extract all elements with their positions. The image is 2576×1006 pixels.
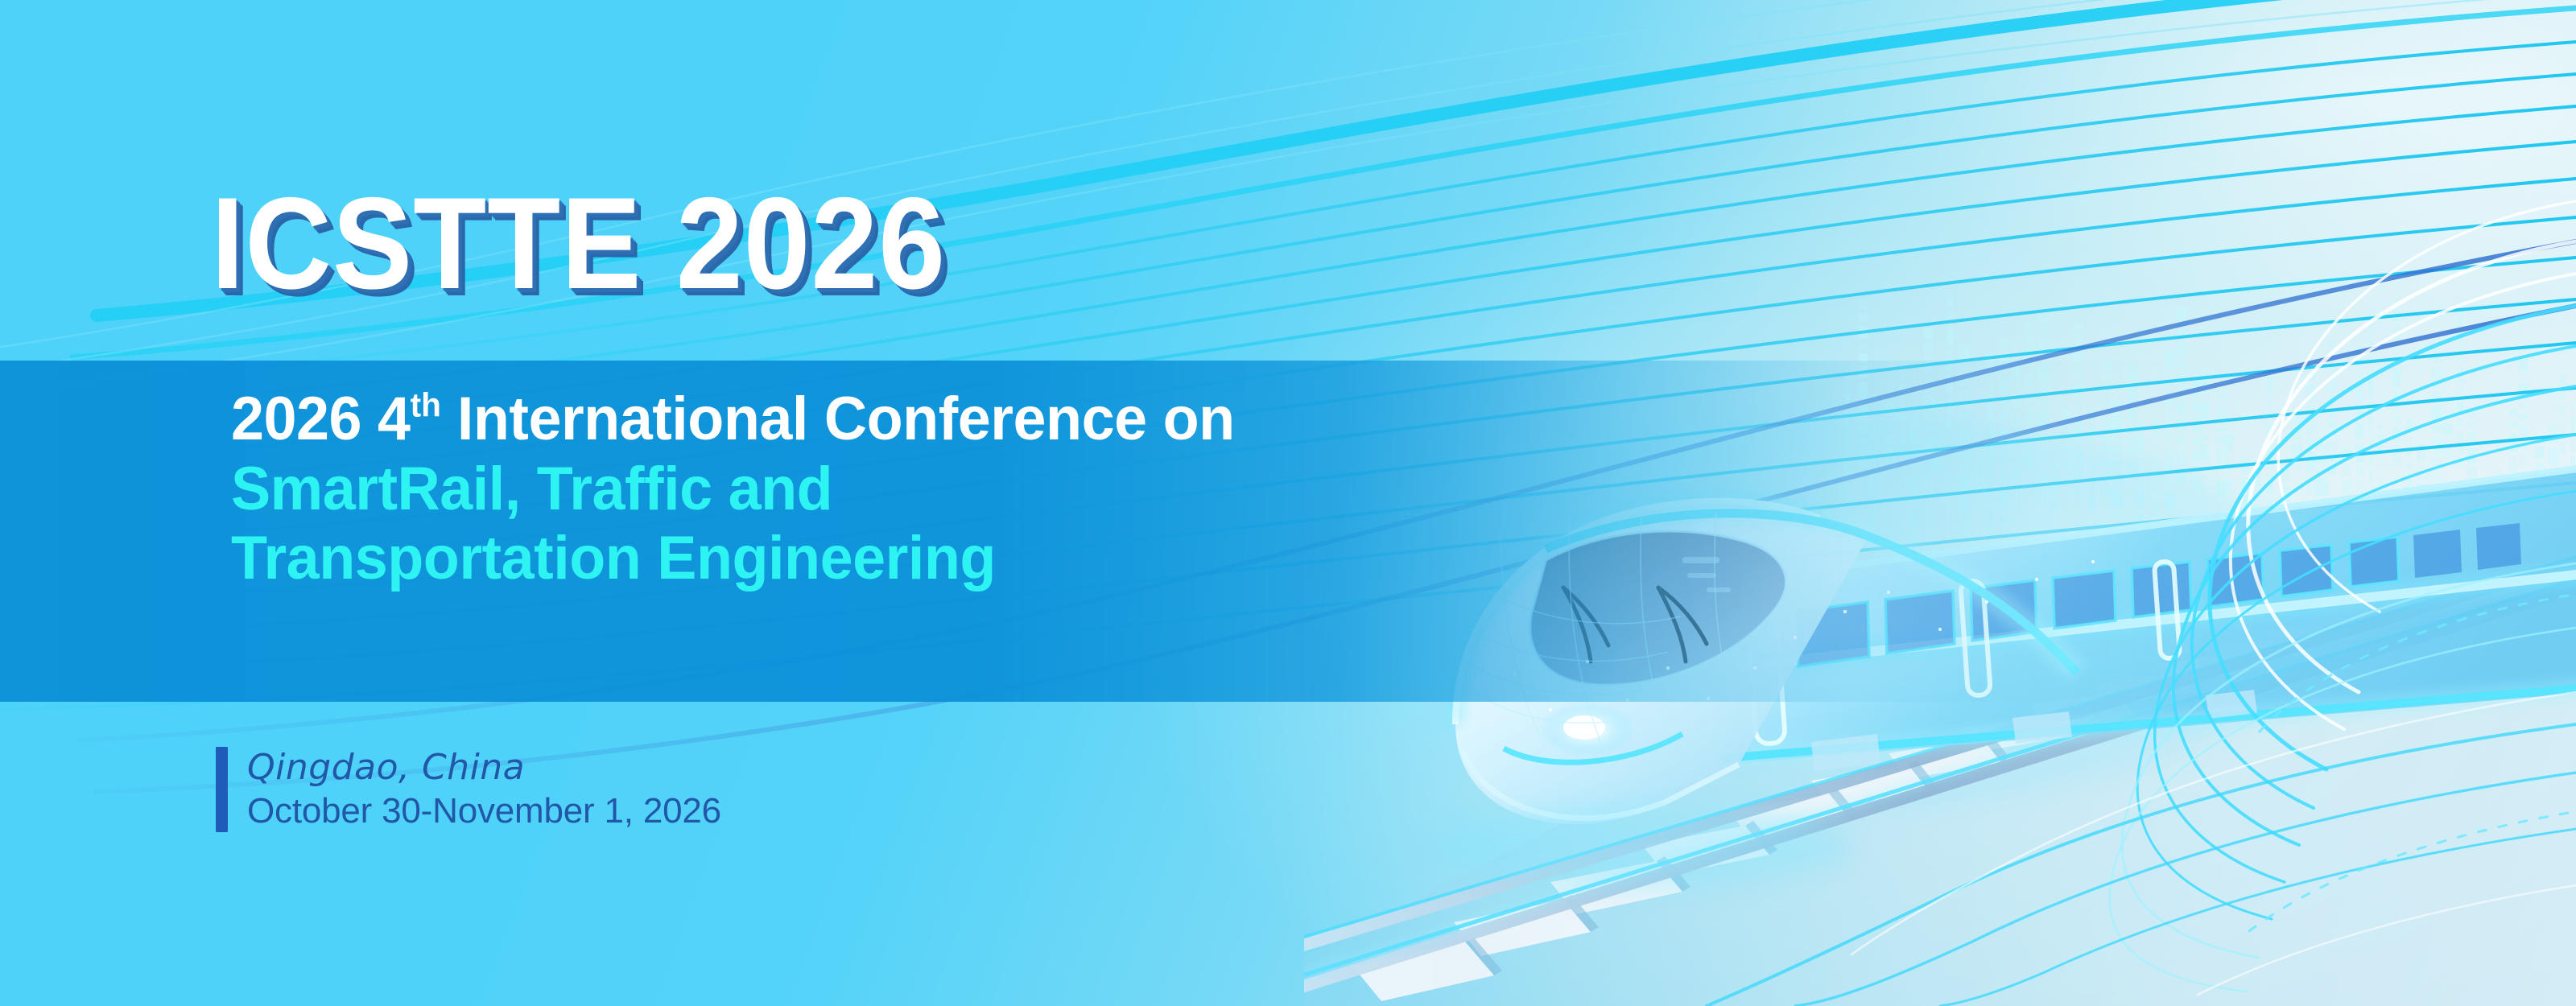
venue-city: Qingdao, China bbox=[247, 747, 721, 790]
conference-subtitle: 2026 4th International Conference on Sma… bbox=[231, 385, 1265, 594]
venue-block: Qingdao, China October 30-November 1, 20… bbox=[216, 747, 721, 832]
subtitle-line-1-prefix: 2026 4 bbox=[231, 385, 411, 453]
subtitle-line-1-suffix: International Conference on bbox=[441, 385, 1235, 453]
venue-dates: October 30-November 1, 2026 bbox=[247, 790, 721, 833]
subtitle-line-1: 2026 4th International Conference on bbox=[231, 385, 1235, 455]
page-title: ICSTTE 2026 bbox=[211, 179, 946, 309]
venue-accent-bar bbox=[216, 747, 228, 832]
subtitle-ordinal-suffix: th bbox=[411, 386, 441, 424]
venue-lines: Qingdao, China October 30-November 1, 20… bbox=[247, 747, 721, 832]
subtitle-line-2: SmartRail, Traffic and bbox=[231, 455, 1235, 525]
conference-banner: ICSTTE 2026 2026 4th International Confe… bbox=[0, 0, 2576, 1006]
subtitle-line-3: Transportation Engineering bbox=[231, 524, 1235, 594]
